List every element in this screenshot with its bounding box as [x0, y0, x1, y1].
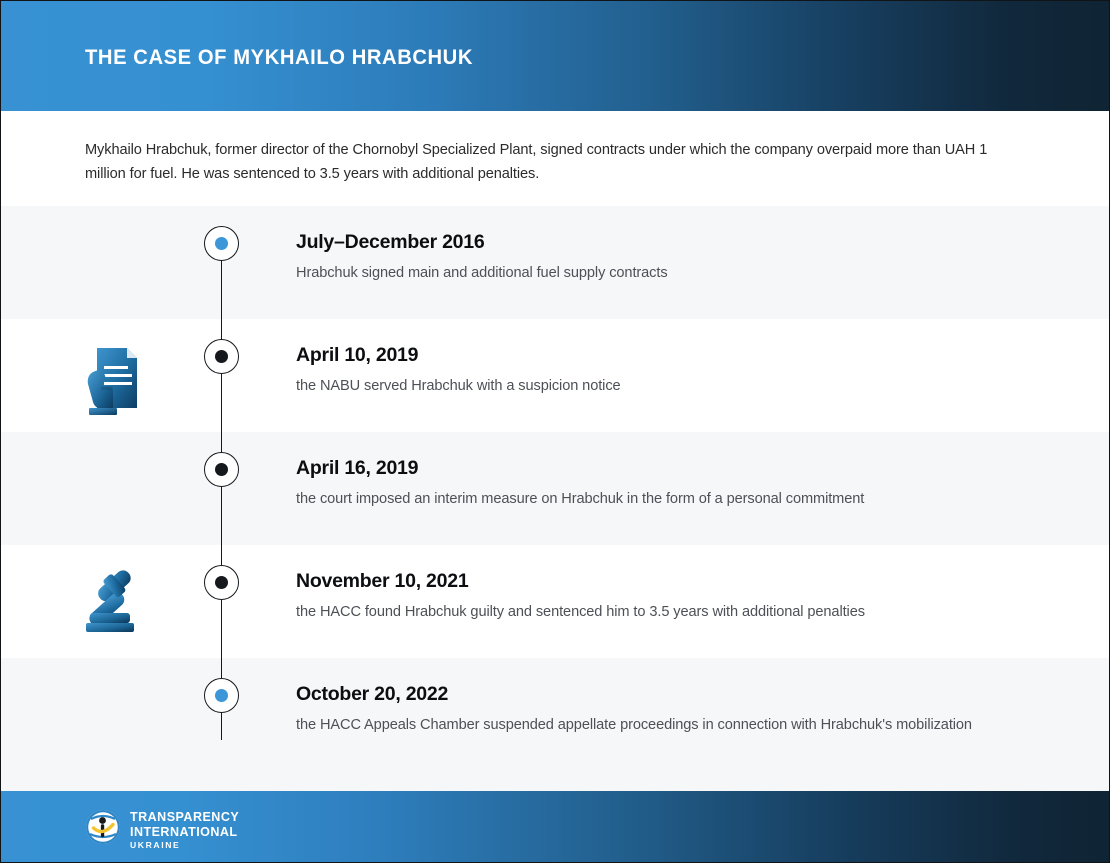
- timeline-entry-date: April 10, 2019: [296, 343, 1056, 367]
- timeline-marker: [204, 226, 239, 261]
- timeline-entry: April 10, 2019 the NABU served Hrabchuk …: [296, 343, 1056, 398]
- page-header: THE CASE OF MYKHAILO HRABCHUK: [1, 1, 1110, 111]
- timeline-row: November 10, 2021 the HACC found Hrabchu…: [1, 545, 1110, 658]
- timeline-row: April 16, 2019 the court imposed an inte…: [1, 432, 1110, 545]
- timeline-entry-description: the court imposed an interim measure on …: [296, 488, 1056, 511]
- timeline-marker-dot: [215, 350, 228, 363]
- timeline-entry-description: Hrabchuk signed main and additional fuel…: [296, 262, 1056, 285]
- timeline-entry-date: October 20, 2022: [296, 682, 1006, 706]
- timeline-entry-date: November 10, 2021: [296, 569, 1056, 593]
- timeline-entry-date: July–December 2016: [296, 230, 1056, 254]
- logo-line-3: UKRAINE: [130, 841, 245, 850]
- timeline-marker-dot: [215, 576, 228, 589]
- timeline-row: October 20, 2022 the HACC Appeals Chambe…: [1, 658, 1110, 791]
- timeline-entry-description: the HACC Appeals Chamber suspended appel…: [296, 714, 1006, 737]
- timeline-entry: October 20, 2022 the HACC Appeals Chambe…: [296, 682, 1006, 737]
- intro-paragraph: Mykhailo Hrabchuk, former director of th…: [85, 138, 1015, 186]
- timeline-entry: November 10, 2021 the HACC found Hrabchu…: [296, 569, 1056, 624]
- timeline-marker-dot: [215, 689, 228, 702]
- timeline-spine: [221, 244, 222, 740]
- intro-section: Mykhailo Hrabchuk, former director of th…: [1, 111, 1110, 206]
- logo-wordmark: TRANSPARENCY INTERNATIONAL UKRAINE: [130, 810, 245, 850]
- timeline-marker: [204, 452, 239, 487]
- logo-line-2: INTERNATIONAL: [130, 825, 239, 838]
- page-title: THE CASE OF MYKHAILO HRABCHUK: [85, 45, 473, 70]
- timeline-row: July–December 2016 Hrabchuk signed main …: [1, 206, 1110, 319]
- timeline-marker: [204, 565, 239, 600]
- timeline-marker: [204, 339, 239, 374]
- timeline-row: April 10, 2019 the NABU served Hrabchuk …: [1, 319, 1110, 432]
- transparency-international-logo: TRANSPARENCY INTERNATIONAL UKRAINE: [85, 809, 245, 850]
- transparency-international-logo-icon: [85, 809, 121, 850]
- hand-holding-document-icon: [83, 346, 141, 423]
- timeline-marker-dot: [215, 237, 228, 250]
- timeline-marker: [204, 678, 239, 713]
- timeline-entry-description: the NABU served Hrabchuk with a suspicio…: [296, 375, 1056, 398]
- timeline: July–December 2016 Hrabchuk signed main …: [1, 206, 1110, 791]
- timeline-entry: April 16, 2019 the court imposed an inte…: [296, 456, 1056, 511]
- timeline-marker-dot: [215, 463, 228, 476]
- gavel-icon: [82, 565, 154, 642]
- infographic-page: THE CASE OF MYKHAILO HRABCHUK Mykhailo H…: [0, 0, 1110, 863]
- timeline-entry-description: the HACC found Hrabchuk guilty and sente…: [296, 601, 1056, 624]
- logo-line-1: TRANSPARENCY: [130, 810, 239, 823]
- timeline-entry-date: April 16, 2019: [296, 456, 1056, 480]
- timeline-entry: July–December 2016 Hrabchuk signed main …: [296, 230, 1056, 285]
